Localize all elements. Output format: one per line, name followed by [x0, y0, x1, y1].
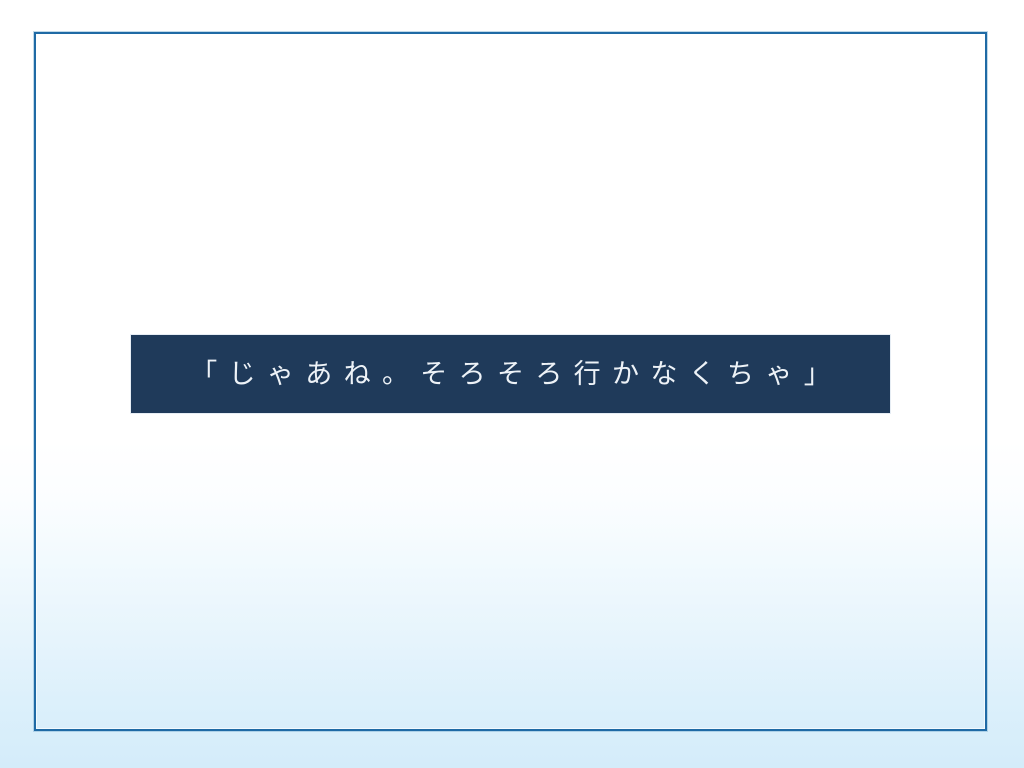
caption-text: 「じゃあね。そろそろ行かなくちゃ」 — [179, 361, 842, 388]
slide-canvas: 「じゃあね。そろそろ行かなくちゃ」 — [0, 0, 1024, 768]
caption-band: 「じゃあね。そろそろ行かなくちゃ」 — [131, 335, 890, 413]
